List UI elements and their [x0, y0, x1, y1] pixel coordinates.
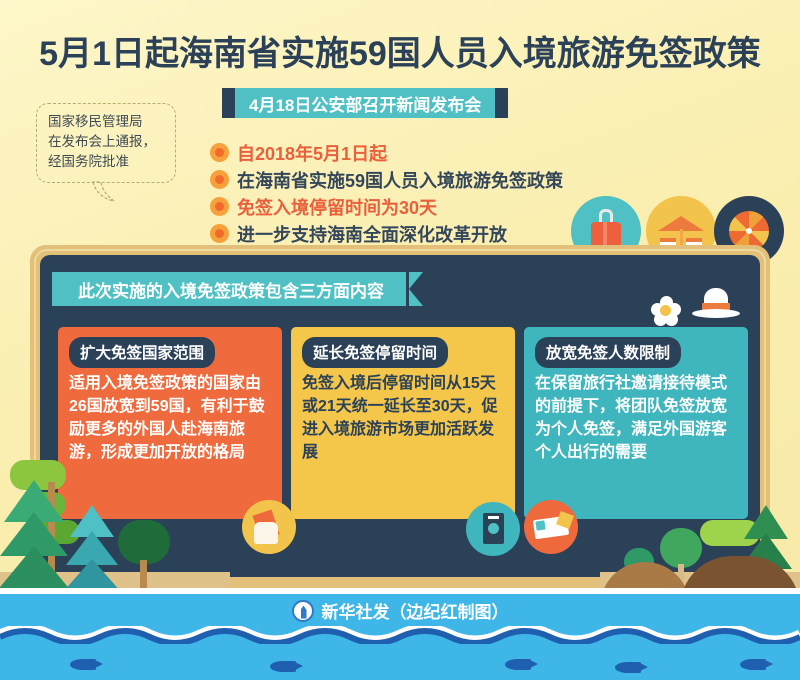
card-expand-visa-free-countries: 扩大免签国家范围 适用入境免签政策的国家由26国放宽到59国，有利于鼓励更多的外…	[58, 327, 282, 519]
banner-cap-right	[495, 88, 508, 118]
fish-icon	[615, 662, 641, 673]
section-banner-arrow-icon	[409, 272, 423, 306]
callout-line-1: 国家移民管理局	[48, 112, 167, 132]
credit-line: 新华社发（边纪红制图）	[0, 598, 800, 623]
card-title: 扩大免签国家范围	[69, 337, 215, 368]
infographic-root: 5月1日起海南省实施59国人员入境旅游免签政策 4月18日公安部召开新闻发布会 …	[0, 0, 800, 680]
section-banner-label: 此次实施的入境免签政策包含三方面内容	[78, 277, 384, 302]
callout-bubble: 国家移民管理局 在发布会上通报， 经国务院批准	[36, 103, 176, 183]
tree-foliage	[660, 528, 702, 568]
sun-hat-icon	[692, 288, 740, 322]
content-cards: 扩大免签国家范围 适用入境免签政策的国家由26国放宽到59国，有利于鼓励更多的外…	[58, 327, 748, 519]
card-relax-group-size-limit: 放宽免签人数限制 在保留旅行社邀请接待模式的前提下，将团队免签放宽为个人免签，满…	[524, 327, 748, 519]
list-item: 免签入境停留时间为30天	[210, 193, 563, 220]
sub-banner-label: 4月18日公安部召开新闻发布会	[235, 88, 495, 118]
callout-line-3: 经国务院批准	[48, 152, 167, 172]
bullet-dot-icon	[210, 197, 229, 216]
bullet-label: 进一步支持海南全面深化改革开放	[237, 221, 507, 247]
section-banner: 此次实施的入境免签政策包含三方面内容	[52, 272, 406, 306]
bullet-dot-icon	[210, 224, 229, 243]
callout-tail-icon	[92, 181, 116, 203]
flower-icon	[651, 296, 681, 326]
hat-brim-part	[692, 309, 740, 318]
card-title: 延长免签停留时间	[302, 337, 448, 368]
bullet-dot-icon	[210, 170, 229, 189]
sub-banner: 4月18日公安部召开新闻发布会	[222, 88, 508, 118]
card-body: 免签入境后停留时间从15天或21天统一延长至30天，促进入境旅游市场更加活跃发展	[302, 372, 504, 464]
hand-ticket-icon	[242, 500, 296, 554]
list-item: 自2018年5月1日起	[210, 139, 563, 166]
flower-center	[660, 305, 671, 316]
xinhua-logo-icon	[292, 600, 314, 622]
card-body: 在保留旅行社邀请接待模式的前提下，将团队免签放宽为个人免签，满足外国游客个人出行…	[535, 372, 737, 464]
bullet-label: 免签入境停留时间为30天	[237, 194, 437, 220]
fish-row	[0, 655, 800, 679]
fish-icon	[740, 659, 766, 670]
callout-line-2: 在发布会上通报，	[48, 132, 167, 152]
fish-icon	[505, 659, 531, 670]
passport-globe-icon	[466, 502, 520, 556]
bullet-dot-icon	[210, 143, 229, 162]
page-title: 5月1日起海南省实施59国人员入境旅游免签政策	[0, 26, 800, 75]
plane-ticket-icon	[524, 500, 578, 554]
ticket-stub-part	[535, 520, 545, 530]
card-body: 适用入境免签政策的国家由26国放宽到59国，有利于鼓励更多的外国人赴海南旅游，形…	[69, 372, 271, 464]
hand-palm-part	[254, 522, 278, 544]
suitcase-handle-part	[599, 209, 613, 223]
bullet-label: 在海南省实施59国人员入境旅游免签政策	[237, 167, 563, 193]
card-title: 放宽免签人数限制	[535, 337, 681, 368]
bullet-list: 自2018年5月1日起 在海南省实施59国人员入境旅游免签政策 免签入境停留时间…	[210, 139, 563, 247]
passport-globe-part	[488, 523, 499, 534]
tree-foliage	[118, 520, 170, 564]
fish-icon	[70, 659, 96, 670]
credit-label: 新华社发（边纪红制图）	[322, 598, 509, 623]
passport-top-part	[488, 516, 499, 519]
fish-icon	[270, 661, 296, 672]
parasol-center-part	[746, 228, 752, 234]
bullet-label: 自2018年5月1日起	[237, 140, 387, 166]
list-item: 进一步支持海南全面深化改革开放	[210, 220, 563, 247]
card-extend-stay-duration: 延长免签停留时间 免签入境后停留时间从15天或21天统一延长至30天，促进入境旅…	[291, 327, 515, 519]
list-item: 在海南省实施59国人员入境旅游免签政策	[210, 166, 563, 193]
banner-cap-left	[222, 88, 235, 118]
